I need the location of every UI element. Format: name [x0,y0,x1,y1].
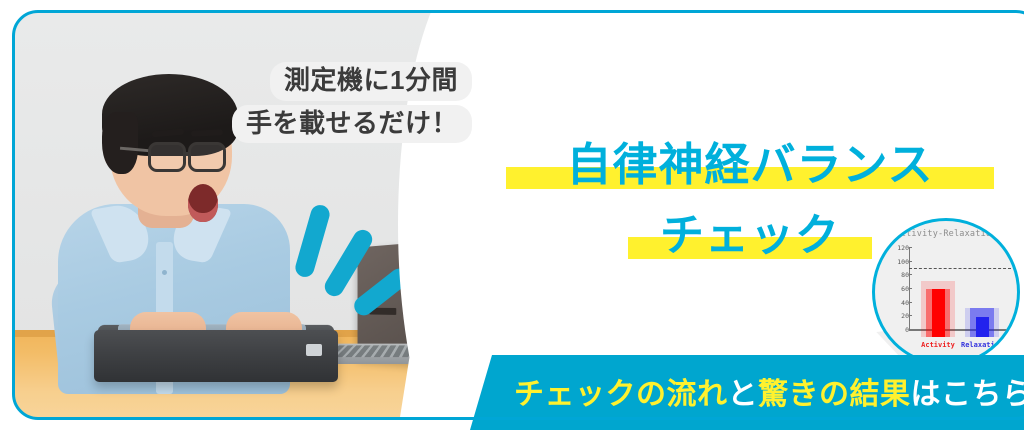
open-mouth [188,184,218,222]
cta-text: チェックの流れと驚きの結果はこちら≫ [514,369,1024,413]
y-tick-100: 100 [895,258,909,266]
glasses-bridge [185,152,191,156]
cta-text-part-1: チェックの流れ [514,378,728,411]
promo-banner: 測定機に1分間 手を載せるだけ！ 自律神経バランス チェック Activity-… [0,0,1024,430]
callout-line-1: 測定機に1分間 [270,62,472,101]
y-tick-0: 0 [895,326,909,334]
glasses-lens-right [188,142,226,172]
cta-text-part-4: はこちら [911,378,1024,411]
title-line-1-row: 自律神経バランス [500,128,1000,193]
device-indicator [306,344,322,356]
y-tick-60: 60 [895,285,909,293]
callout-text: 測定機に1分間 手を載せるだけ！ [232,62,472,147]
result-chart-bubble: Activity-Relaxation 120 100 80 60 40 20 … [872,218,1020,366]
y-tick-80: 80 [895,271,909,279]
callout-line-2: 手を載せるだけ！ [232,105,472,144]
y-tick-40: 40 [895,299,909,307]
hair-sideburn [102,112,138,174]
cta-text-part-2: と [728,378,759,411]
shirt-button [162,270,167,275]
title-line-1: 自律神経バランス [566,139,933,190]
bar-label-relaxation: Relaxation [961,341,1003,349]
glasses-lens-left [148,142,186,172]
title-line-2: チェック [660,211,840,260]
bar-group-relaxation: Relaxation [965,255,999,337]
measurement-device [94,330,338,382]
bar-label-activity: Activity [917,341,959,349]
cta-banner[interactable]: チェックの流れと驚きの結果はこちら≫ [470,355,1024,430]
y-tick-120: 120 [895,244,909,252]
cta-text-part-3: 驚きの結果 [758,378,911,411]
chart-title: Activity-Relaxation [875,229,1017,239]
bar-activity-core [932,289,945,337]
bar-relaxation-core [976,317,989,337]
bar-group-activity: Activity [921,255,955,337]
chart-plot-area: 120 100 80 60 40 20 0 Activity Relaxatio… [895,247,1013,339]
y-tick-20: 20 [895,312,909,320]
